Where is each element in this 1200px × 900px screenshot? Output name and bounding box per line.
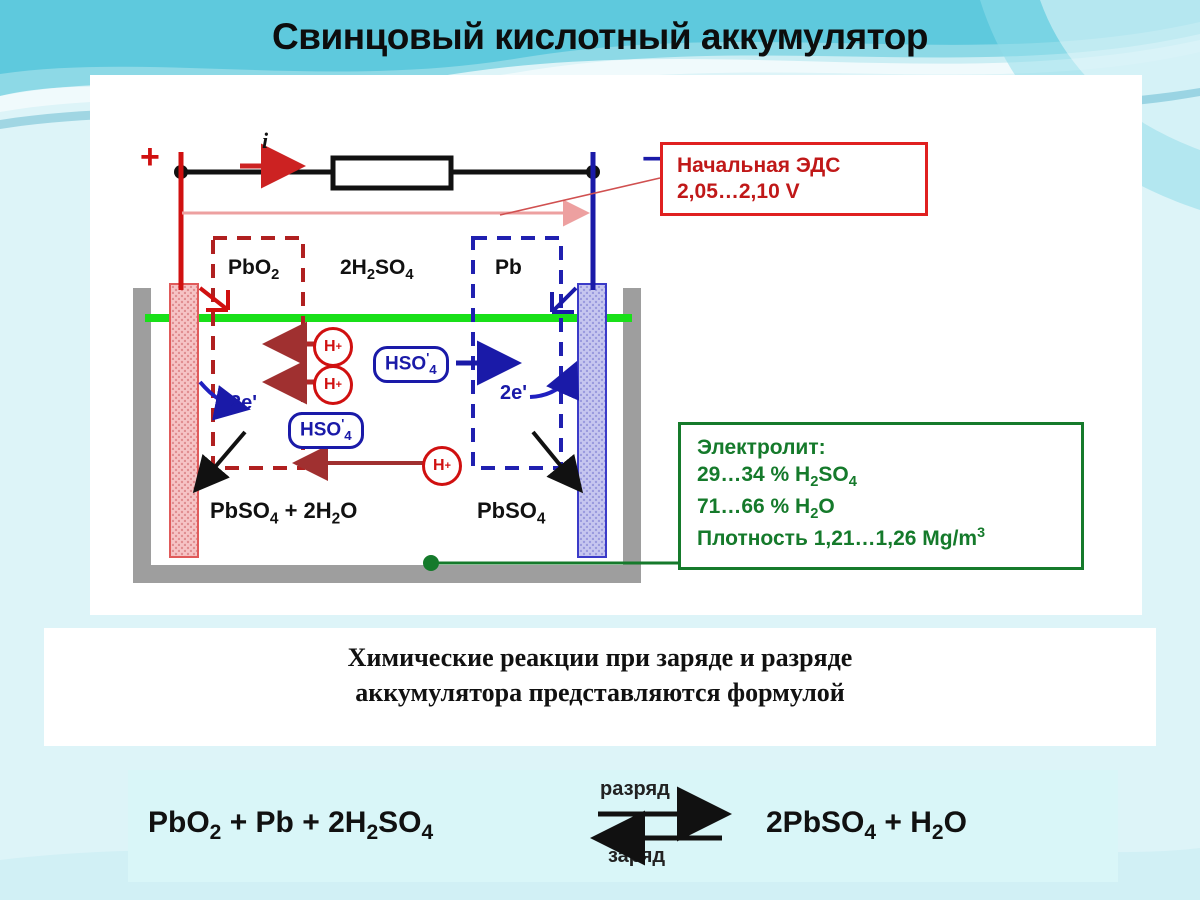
hydrogen-ion-charge: +	[336, 379, 342, 391]
electrons-right-label: 2e'	[500, 382, 527, 405]
product-right-sub: 4	[537, 510, 546, 527]
equation-left-sub3: 4	[421, 821, 433, 844]
hydrogen-ion-badge-2: H+	[313, 365, 353, 405]
product-left-tail2: O	[340, 498, 357, 523]
caption-text: Химические реакции при заряде и разряде …	[44, 640, 1156, 710]
anode-material-subscript: 2	[271, 267, 279, 283]
electrolyte-callout-line2: 29…34 % H2SO4	[697, 461, 1081, 492]
equation-right-tail: O	[944, 806, 967, 839]
equation-left-pre: PbO	[148, 806, 210, 839]
electrolyte-formula-sub1: 2	[367, 267, 375, 283]
electrolyte-line2-pre: 29…34 % H	[697, 463, 810, 486]
electrolyte-formula-label: 2H2SO4	[340, 256, 414, 283]
emf-callout-box: Начальная ЭДС 2,05…2,10 V	[660, 142, 928, 216]
equation-left-mid2: SO	[378, 806, 421, 839]
hydrogen-ion-symbol: H	[324, 376, 336, 394]
anode-material-label: PbO2	[228, 256, 279, 283]
equation-right-pre: 2PbSO	[766, 806, 864, 839]
sulfate-ion-symbol: HSO	[385, 353, 426, 374]
caption-line-2: аккумулятора представляются формулой	[44, 675, 1156, 710]
equation-right-sub2: 2	[932, 821, 944, 844]
equation-right-mid: + H	[876, 806, 932, 839]
sulfate-ion-symbol: HSO	[300, 419, 341, 440]
hydrogen-ion-symbol: H	[324, 338, 336, 356]
product-arrow-left	[198, 432, 245, 487]
electrolyte-callout-box: Электролит: 29…34 % H2SO4 71…66 % H2O Пл…	[678, 422, 1084, 570]
electrolyte-formula-mid: SO	[375, 256, 405, 279]
product-left-pre: PbSO	[210, 498, 270, 523]
electrons-left-label: 2e'	[230, 392, 257, 415]
product-right-label: PbSO4	[477, 498, 545, 528]
electrolyte-line2-mid: SO	[818, 463, 848, 486]
cathode-connector-tick	[552, 288, 576, 312]
caption-line-1: Химические реакции при заряде и разряде	[44, 640, 1156, 675]
product-left-sub2: 2	[332, 510, 341, 527]
electron-arrow-right	[530, 368, 574, 397]
hydrogen-ion-symbol: H	[433, 457, 445, 475]
electrolyte-formula-sub2: 4	[405, 267, 413, 283]
electrolyte-line4-pre: Плотность 1,21…1,26 Mg/m	[697, 527, 977, 550]
product-arrow-right	[533, 432, 578, 487]
hydrogen-ion-badge-1: H+	[313, 327, 353, 367]
electrolyte-callout-line4: Плотность 1,21…1,26 Mg/m3	[697, 524, 1081, 552]
electrolyte-line3-tail: O	[818, 495, 834, 518]
electrolyte-formula-pre: 2H	[340, 256, 367, 279]
discharge-direction-label: разряд	[600, 778, 670, 801]
equation-left-mid: + Pb + 2H	[221, 806, 366, 839]
equation-left-sub1: 2	[210, 821, 222, 844]
hydrogen-ion-charge: +	[445, 460, 451, 472]
product-left-label: PbSO4 + 2H2O	[210, 498, 357, 528]
charge-direction-label: заряд	[608, 845, 665, 868]
electrolyte-callout-line3: 71…66 % H2O	[697, 493, 1081, 524]
sulfate-ion-sub: 4	[344, 428, 351, 443]
hydrogen-ion-badge-3: H+	[422, 446, 462, 486]
sulfate-ion-sub: 4	[429, 362, 436, 377]
emf-callout-line2: 2,05…2,10 V	[677, 179, 925, 205]
anode-electrode-pbo2	[170, 284, 198, 557]
electrolyte-line4-sup: 3	[977, 525, 985, 541]
equation-right-side: 2PbSO4 + H2O	[766, 806, 967, 845]
electrolyte-callout-line1: Электролит:	[697, 434, 1081, 461]
anode-material-text: PbO	[228, 256, 271, 279]
electrolyte-line3-pre: 71…66 % H	[697, 495, 810, 518]
cathode-electrode-pb	[578, 284, 606, 557]
product-right-pre: PbSO	[477, 498, 537, 523]
current-symbol-label: i	[262, 128, 268, 154]
emf-callout-line1: Начальная ЭДС	[677, 153, 925, 179]
negative-terminal-label: −	[642, 142, 662, 176]
electrolyte-line2-sub2: 4	[849, 474, 857, 490]
emf-leader-line	[500, 178, 660, 215]
positive-terminal-label: +	[140, 140, 160, 174]
hydrogen-ion-charge: +	[336, 341, 342, 353]
battery-vessel	[133, 288, 641, 583]
equation-right-sub1: 4	[864, 821, 876, 844]
sulfate-ion-badge-1: HSO'4	[373, 346, 449, 383]
cathode-material-label: Pb	[495, 256, 522, 280]
product-left-tail: + 2H	[278, 498, 331, 523]
equation-left-side: PbO2 + Pb + 2H2SO4	[148, 806, 433, 845]
equation-left-sub2: 2	[366, 821, 378, 844]
sulfate-ion-badge-2: HSO'4	[288, 412, 364, 449]
